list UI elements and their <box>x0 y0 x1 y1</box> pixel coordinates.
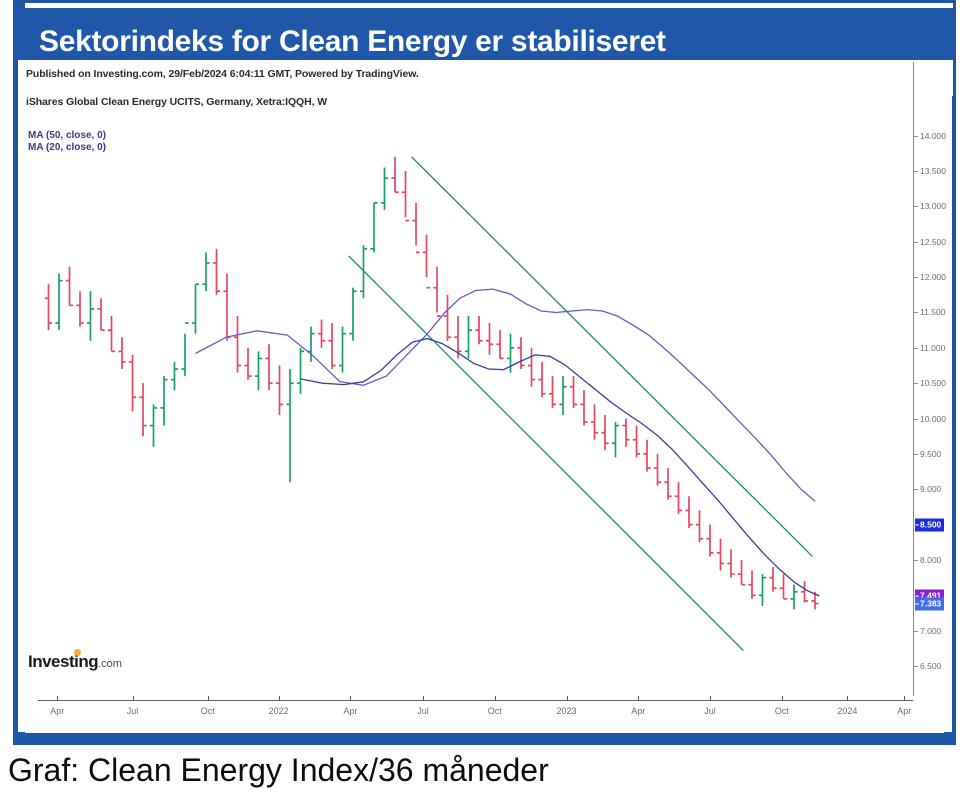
date-scale[interactable]: AprJulOct2022AprJulOct2023AprJulOct2024A… <box>38 696 913 726</box>
price-tick-label: 12.000 <box>920 272 946 282</box>
date-tick-label: Apr <box>631 706 645 716</box>
price-tick-label: 13.000 <box>920 201 946 211</box>
price-tick <box>913 419 918 420</box>
date-tick-label: Jul <box>704 706 716 716</box>
watermark-domain: .com <box>98 658 122 670</box>
date-tick <box>847 696 848 701</box>
date-tick-label: Oct <box>775 706 789 716</box>
price-plot-svg <box>18 60 913 696</box>
date-tick-label: 2022 <box>269 706 289 716</box>
price-tick <box>913 277 918 278</box>
price-tick-label: 10.500 <box>920 378 946 388</box>
date-tick <box>57 696 58 701</box>
price-tick <box>913 666 918 667</box>
figure-caption: Graf: Clean Energy Index/36 måneder <box>8 752 549 789</box>
date-tick <box>495 696 496 701</box>
date-tick-label: Oct <box>201 706 215 716</box>
price-scale[interactable]: 14.00013.50013.00012.50012.00011.50011.0… <box>913 60 952 696</box>
price-scale-axis-line <box>913 62 914 696</box>
date-tick-label: Apr <box>50 706 64 716</box>
last-price-tag[interactable]: 7.383 <box>915 597 944 610</box>
price-tick-label: 8.000 <box>920 555 941 565</box>
price-tick-label: 11.000 <box>920 343 945 353</box>
price-tick <box>913 560 918 561</box>
date-tick <box>423 696 424 701</box>
price-tick <box>913 348 918 349</box>
title-banner: Sektorindeks for Clean Energy er stabili… <box>13 8 956 60</box>
price-tick <box>913 206 918 207</box>
watermark-name: Investing <box>28 652 98 671</box>
channel-lower <box>349 256 744 651</box>
ma-level-tag[interactable]: 8.500 <box>915 518 944 531</box>
date-tick-label: Apr <box>343 706 357 716</box>
price-tick <box>913 136 918 137</box>
price-tick-label: 9.500 <box>920 449 941 459</box>
date-tick <box>279 696 280 701</box>
price-tick-label: 12.500 <box>920 237 946 247</box>
price-tick-label: 10.000 <box>920 414 946 424</box>
date-tick <box>904 696 905 701</box>
date-tick <box>782 696 783 701</box>
date-tick <box>133 696 134 701</box>
date-tick <box>710 696 711 701</box>
date-tick <box>567 696 568 701</box>
price-tick-label: 7.000 <box>920 626 941 636</box>
price-tick-label: 11.500 <box>920 307 945 317</box>
date-tick-label: Jul <box>417 706 429 716</box>
screenshot-root: Sektorindeks for Clean Energy er stabili… <box>0 0 969 803</box>
date-tick-label: Apr <box>897 706 911 716</box>
ma50-line <box>196 289 816 501</box>
page-title: Sektorindeks for Clean Energy er stabili… <box>39 25 666 59</box>
price-tick-label: 14.000 <box>920 131 946 141</box>
date-tick-label: Jul <box>127 706 139 716</box>
price-tick <box>913 171 918 172</box>
date-tick-label: 2023 <box>556 706 576 716</box>
price-tick <box>913 242 918 243</box>
channel-upper <box>412 157 813 557</box>
price-tick <box>913 631 918 632</box>
investing-watermark: Investing.com <box>28 652 122 672</box>
price-tick <box>913 489 918 490</box>
date-tick-label: Oct <box>488 706 502 716</box>
watermark-dot-icon <box>74 649 81 656</box>
date-tick <box>638 696 639 701</box>
price-plot <box>18 60 913 696</box>
price-tick-label: 9.000 <box>920 484 941 494</box>
price-tick <box>913 312 918 313</box>
price-tick <box>913 454 918 455</box>
card-bottom-border <box>13 733 956 745</box>
date-tick <box>350 696 351 701</box>
price-tick-label: 6.500 <box>920 661 941 671</box>
price-tick-label: 13.500 <box>920 166 946 176</box>
date-tick-label: 2024 <box>837 706 857 716</box>
date-tick <box>208 696 209 701</box>
chart-panel: Published on Investing.com, 29/Feb/2024 … <box>18 60 952 732</box>
price-tick <box>913 383 918 384</box>
